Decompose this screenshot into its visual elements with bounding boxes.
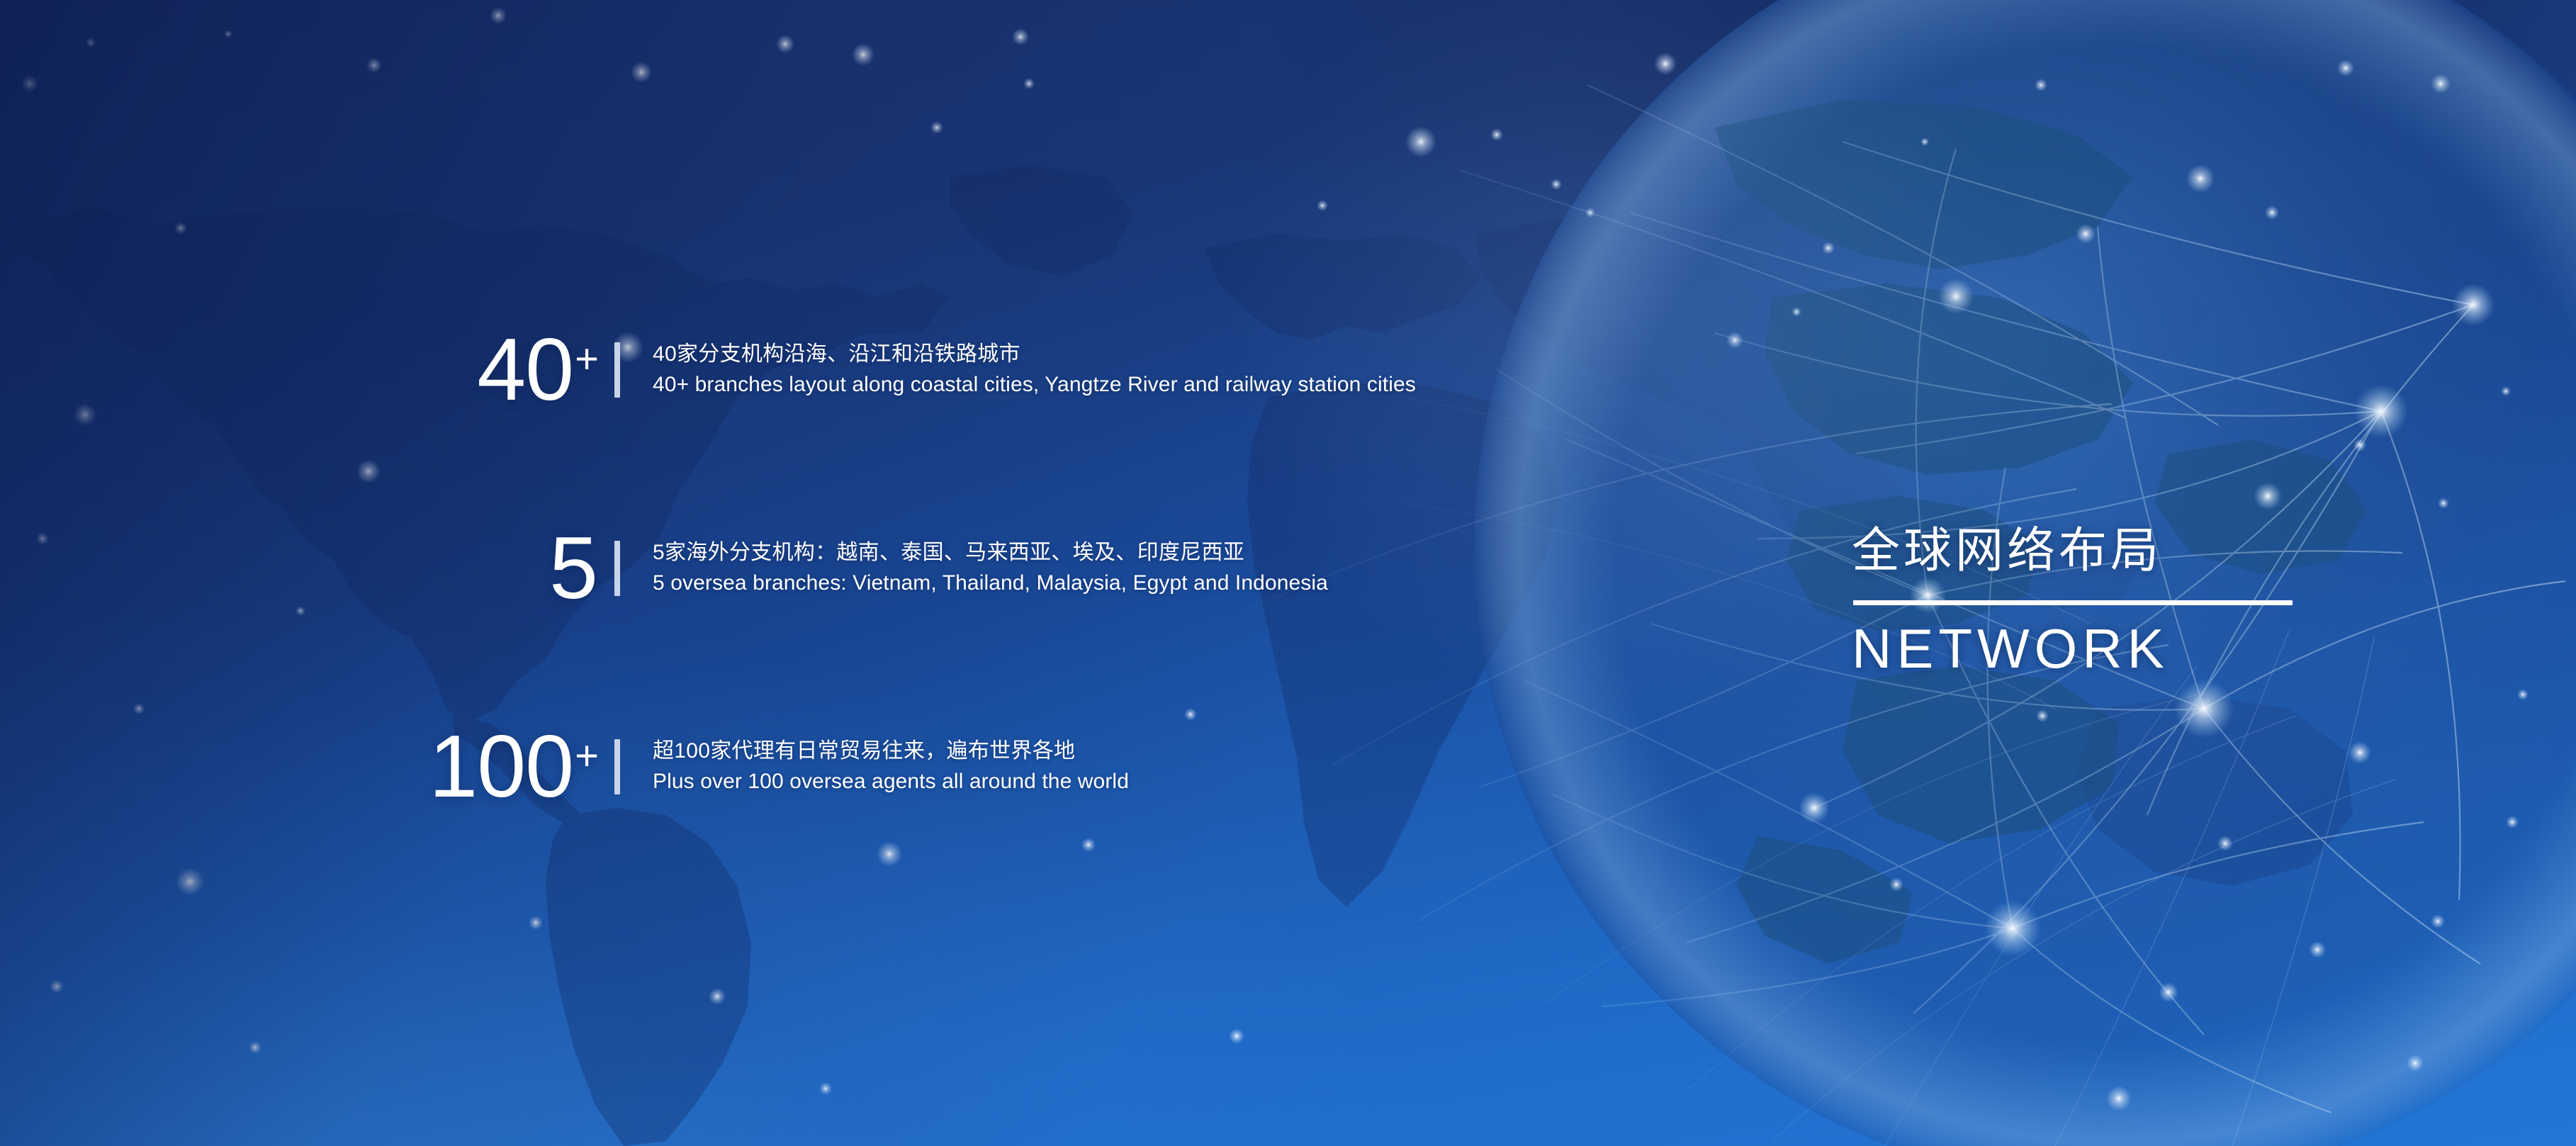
stat-number-agents: 100+ <box>0 723 599 811</box>
banner-content: 40+ 40家分支机构沿海、沿江和沿铁路城市 40+ branches layo… <box>0 0 2576 1146</box>
stat-number-suffix: + <box>575 336 599 382</box>
stat-divider <box>614 342 620 398</box>
stat-text-block: 超100家代理有日常贸易往来，遍布世界各地 Plus over 100 over… <box>653 736 1502 797</box>
global-network-banner: 40+ 40家分支机构沿海、沿江和沿铁路城市 40+ branches layo… <box>0 0 2576 1146</box>
stat-text-en: Plus over 100 oversea agents all around … <box>653 767 1502 797</box>
stat-number-oversea-branches: 5 <box>0 524 599 612</box>
stat-number-value: 5 <box>549 519 597 617</box>
stat-number-value: 100 <box>429 718 573 816</box>
stat-text-en: 5 oversea branches: Vietnam, Thailand, M… <box>653 568 1502 599</box>
title-block: 全球网络布局 NETWORK <box>1852 526 2305 676</box>
title-english: NETWORK <box>1852 621 2305 676</box>
stat-text-en: 40+ branches layout along coastal cities… <box>653 370 1502 400</box>
stat-row: 100+ 超100家代理有日常贸易往来，遍布世界各地 Plus over 100… <box>0 703 1502 831</box>
stat-number-suffix: + <box>575 733 599 779</box>
stat-row: 5 5家海外分支机构：越南、泰国、马来西亚、埃及、印度尼西亚 5 oversea… <box>0 505 1502 632</box>
stat-text-cn: 5家海外分支机构：越南、泰国、马来西亚、埃及、印度尼西亚 <box>653 538 1502 568</box>
stat-number-branches: 40+ <box>0 326 599 414</box>
stat-divider <box>614 541 620 596</box>
stat-text-block: 40家分支机构沿海、沿江和沿铁路城市 40+ branches layout a… <box>653 339 1502 400</box>
statistics-list: 40+ 40家分支机构沿海、沿江和沿铁路城市 40+ branches layo… <box>0 306 1502 831</box>
stat-number-value: 40 <box>477 321 573 419</box>
title-underline-rule <box>1853 600 2293 605</box>
title-chinese: 全球网络布局 <box>1852 526 2305 576</box>
stat-text-cn: 40家分支机构沿海、沿江和沿铁路城市 <box>653 339 1502 370</box>
stat-row: 40+ 40家分支机构沿海、沿江和沿铁路城市 40+ branches layo… <box>0 306 1502 434</box>
stat-text-cn: 超100家代理有日常贸易往来，遍布世界各地 <box>653 736 1502 767</box>
stat-divider <box>614 739 620 794</box>
stat-text-block: 5家海外分支机构：越南、泰国、马来西亚、埃及、印度尼西亚 5 oversea b… <box>653 538 1502 598</box>
